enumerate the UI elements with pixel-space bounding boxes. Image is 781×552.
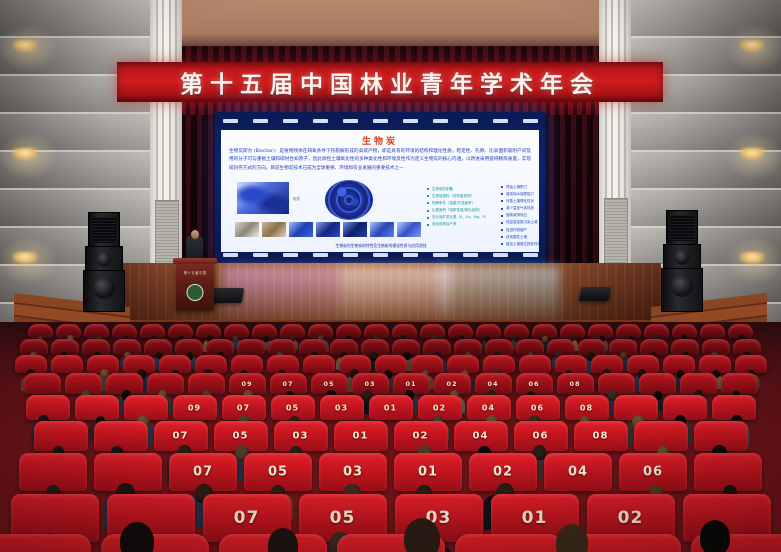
seat-number: 05 [311, 380, 348, 388]
seat-number: 04 [475, 380, 512, 388]
audience-seating: 0907050301020406080907050301020406080705… [0, 322, 781, 552]
audience-member-head [263, 336, 269, 342]
audience-member-head-foreground [700, 520, 730, 552]
slide-bullet-item: 提高土壤肥力 [501, 184, 539, 191]
seat-number: 03 [274, 431, 328, 442]
auditorium-seat[interactable]: 08 [574, 421, 628, 451]
podium-label: 第十五届中国 [176, 270, 214, 275]
auditorium-seat[interactable] [51, 355, 83, 373]
stage-monitor-left [210, 288, 245, 303]
seat-number: 04 [544, 465, 612, 480]
screen-led-dash [403, 253, 418, 257]
seat-number: 08 [557, 380, 594, 388]
seat-number: 02 [587, 508, 675, 528]
thumbnail [316, 222, 340, 237]
screen-led-dash [253, 253, 268, 257]
screen-led-dash [463, 119, 478, 123]
podium-emblem-icon [187, 284, 204, 301]
presenter-head [191, 230, 199, 239]
podium: 第十五届中国 [176, 262, 214, 310]
seat-number: 02 [394, 431, 448, 442]
seat-number: 07 [222, 403, 266, 412]
micrograph-label-a: 电镜 [293, 196, 300, 201]
screen-led-dash [283, 119, 298, 123]
seat-number: 02 [434, 380, 471, 388]
screen-led-dash [283, 253, 298, 257]
wall-sconce-icon [739, 252, 765, 264]
seat-number: 06 [516, 380, 553, 388]
seat-number: 01 [369, 403, 413, 412]
seat-number: 05 [244, 465, 312, 480]
audience-member-head-foreground [556, 524, 588, 552]
wall-sconce-icon [12, 40, 38, 52]
seat-number: 04 [454, 431, 508, 442]
auditorium-seat[interactable] [700, 324, 725, 338]
presentation-slide: 生物炭 生物炭即为 (Biochar)：是植物残体在缺氧条件下热裂解形成的高碳产… [221, 130, 539, 252]
slide-caption: 生物炭的生物炭的特性及生物炭的理化性质与应用途径 [231, 243, 531, 249]
seat-number: 05 [299, 508, 387, 528]
thumbnail [343, 222, 367, 237]
event-banner: 第十五届中国林业青年学术年会 [117, 62, 663, 102]
podium-top [173, 258, 217, 264]
left-speaker-mid [85, 246, 123, 272]
audience-member-head-foreground [404, 518, 440, 552]
seat-number: 01 [394, 465, 462, 480]
stage-light-beam-cyan [440, 266, 560, 322]
screen-led-dash [343, 253, 358, 257]
auditorium-seat[interactable]: 01 [369, 395, 413, 420]
seat-number: 01 [334, 431, 388, 442]
slide-bullet-item: 改良酸性土壤 [501, 234, 539, 241]
seat-number: 03 [320, 403, 364, 412]
screen-led-dash [373, 119, 388, 123]
wall-sconce-icon [739, 148, 765, 160]
seat-number: 03 [352, 380, 389, 388]
wall-sconce-icon [12, 252, 38, 264]
seat-number: 06 [514, 431, 568, 442]
auditorium-seat[interactable] [303, 355, 335, 373]
auditorium-seat[interactable] [75, 395, 119, 420]
screen-led-dash [523, 119, 538, 123]
auditorium-seat[interactable]: 03 [320, 395, 364, 420]
left-speaker-sub [83, 270, 125, 312]
screen-led-dash [463, 253, 478, 257]
seat-number: 05 [214, 431, 268, 442]
auditorium-seat-foreground[interactable] [573, 534, 681, 552]
auditorium-seat-foreground[interactable] [101, 534, 209, 552]
seat-number: 06 [516, 403, 560, 412]
slide-bullet-item: 固碳减排效应 [501, 212, 539, 219]
screen-led-dash [493, 119, 508, 123]
seat-number: 03 [319, 465, 387, 480]
audience-member-head [233, 336, 238, 342]
audience-member-head-foreground [268, 528, 298, 552]
seat-number: 08 [565, 403, 609, 412]
auditorium-seat[interactable] [547, 339, 575, 355]
screen-led-dash [493, 253, 508, 257]
auditorium-seat-foreground[interactable] [455, 534, 563, 552]
seat-number: 07 [270, 380, 307, 388]
screen-led-dash [343, 119, 358, 123]
stage-monitor-right [579, 287, 611, 301]
seat-number: 04 [467, 403, 511, 412]
audience-member-head [542, 336, 548, 342]
slide-title: 生物炭 [221, 134, 539, 147]
auditorium-seat[interactable] [519, 355, 551, 373]
seat-number: 02 [469, 465, 537, 480]
screen-led-dash [313, 119, 328, 123]
auditorium-seat[interactable]: 01 [334, 421, 388, 451]
thumbnail [262, 222, 286, 237]
event-banner-text: 第十五届中国林业青年学术年会 [180, 65, 600, 99]
screen-led-dash [373, 253, 388, 257]
slide-bullet-item: 改善土壤理化性状 [501, 198, 539, 205]
right-speaker-top [666, 210, 698, 246]
stage-light-beam-white [340, 266, 450, 322]
thumbnail [289, 222, 313, 237]
micrograph-image-a [237, 182, 289, 214]
slide-bullet-item: 修复重金属污染土壤 [501, 219, 539, 226]
screen-led-dash [433, 253, 448, 257]
acoustic-wall-panel [0, 190, 150, 228]
auditorium-photo: 第十五届中国林业青年学术年会 生物炭 生物炭即为 (Biochar)：是植物残体… [0, 0, 781, 552]
auditorium-seat[interactable]: 09 [173, 395, 217, 420]
auditorium-seat[interactable]: 08 [557, 373, 594, 394]
seat-number: 08 [574, 431, 628, 442]
seat-number: 07 [203, 508, 291, 528]
screen-led-dash [403, 119, 418, 123]
thumbnail [397, 222, 421, 237]
seat-number: 09 [229, 380, 266, 388]
slide-bullets-blue: 提高土壤肥力增强保水保肥能力改善土壤理化性状减少温室气体排放固碳减排效应修复重金… [461, 184, 539, 249]
slide-bullet-item: 促进作物增产 [501, 227, 539, 234]
slide-bullet-item: 增强保水保肥能力 [501, 191, 539, 198]
auditorium-seat[interactable]: 03 [274, 421, 328, 451]
auditorium-seat[interactable] [721, 373, 758, 394]
wall-sconce-icon [12, 148, 38, 160]
screen-led-dash [313, 253, 328, 257]
seat-number: 02 [418, 403, 462, 412]
seat-number: 05 [271, 403, 315, 412]
slide-body-text: 生物炭即为 (Biochar)：是植物残体在缺氧条件下热裂解形成的高碳产物，即是… [229, 148, 531, 173]
auditorium-seat[interactable]: 06 [516, 373, 553, 394]
seat-number: 01 [393, 380, 430, 388]
slide-bullet-item: 减少温室气体排放 [501, 205, 539, 212]
right-speaker-sub [661, 268, 703, 312]
thumbnail [235, 222, 259, 237]
seat-number: 06 [619, 465, 687, 480]
screen-led-dash [433, 119, 448, 123]
seat-number: 07 [169, 465, 237, 480]
seat-number: 09 [173, 403, 217, 412]
wall-sconce-icon [739, 40, 765, 52]
micrograph-image-b [325, 180, 373, 220]
auditorium-seat[interactable] [24, 373, 61, 394]
left-speaker-top [88, 212, 120, 248]
screen-led-dash [223, 119, 238, 123]
screen-led-dash [223, 253, 238, 257]
auditorium-seat[interactable] [237, 339, 265, 355]
acoustic-wall-panel [631, 190, 781, 228]
thumbnail [370, 222, 394, 237]
auditorium-seat[interactable]: 04 [544, 453, 612, 491]
screen-led-dash [253, 119, 268, 123]
screen-led-dash [523, 253, 538, 257]
seat-number: 07 [154, 431, 208, 442]
micrograph-thumbnail-row [235, 222, 421, 237]
auditorium-seat-foreground[interactable] [0, 534, 91, 552]
right-speaker-mid [663, 244, 701, 270]
